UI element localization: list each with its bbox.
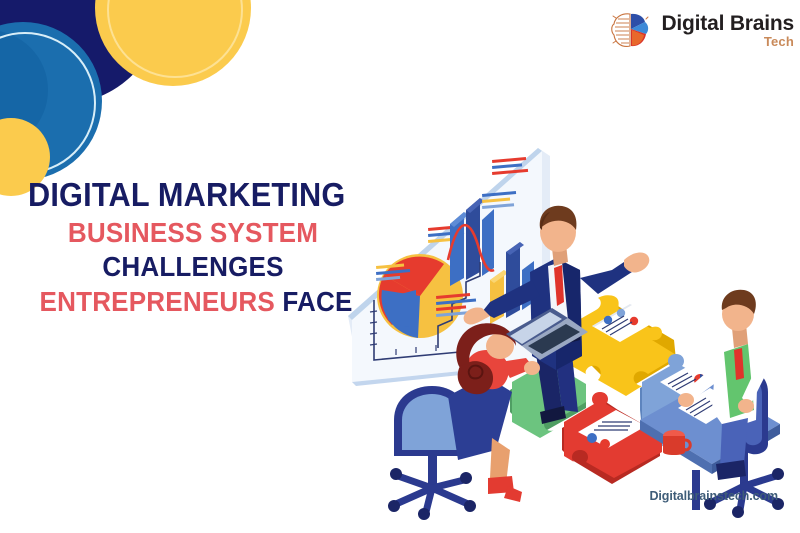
headline-line-3: CHALLENGES bbox=[40, 253, 347, 282]
headline-line-4: ENTREPRENEURS FACE bbox=[40, 288, 347, 317]
banner-canvas: Digital Brains Tech DIGITAL MARKETING BU… bbox=[0, 0, 800, 533]
brain-icon bbox=[610, 10, 652, 50]
headline-line-2: BUSINESS SYSTEM bbox=[40, 219, 347, 248]
hero-illustration bbox=[340, 120, 790, 520]
headline-block: DIGITAL MARKETING BUSINESS SYSTEM CHALLE… bbox=[28, 178, 358, 316]
footer-website-url[interactable]: Digitalbrainstech.com bbox=[650, 489, 779, 503]
logo-subtitle: Tech bbox=[661, 35, 794, 48]
headline-line-1: DIGITAL MARKETING bbox=[28, 178, 335, 212]
headline-line-4-red: ENTREPRENEURS bbox=[40, 286, 275, 317]
logo-title: Digital Brains bbox=[661, 13, 794, 34]
dashboard-screen bbox=[348, 148, 550, 386]
logo-wordmark: Digital Brains Tech bbox=[661, 13, 794, 48]
brand-logo[interactable]: Digital Brains Tech bbox=[610, 10, 794, 50]
